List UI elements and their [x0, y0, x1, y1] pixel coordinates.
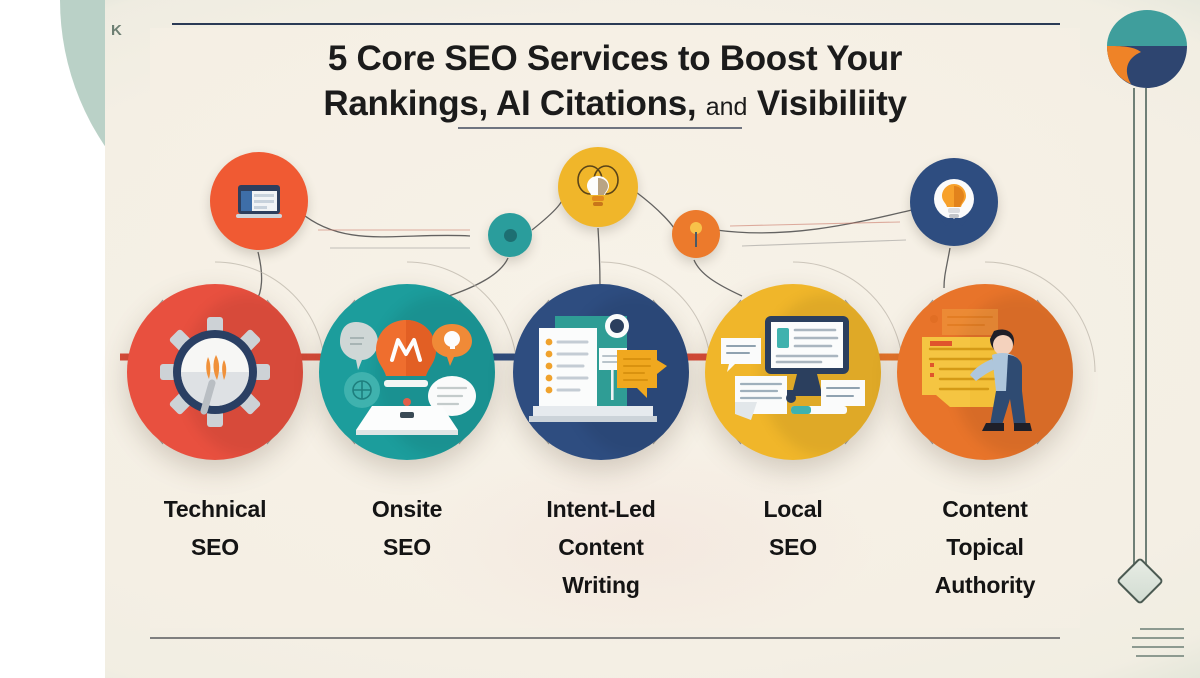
service-circle-intent-led-content-writing[interactable]: [513, 284, 689, 460]
vertical-stem-lines: [1131, 88, 1155, 568]
corner-watermark: K: [111, 22, 122, 39]
person-document-icon: [910, 299, 1060, 445]
node-technical[interactable]: [210, 152, 308, 250]
service-circle-technical-seo[interactable]: [127, 284, 303, 460]
laptop-idea-bubbles-icon: [332, 302, 482, 442]
browser-window-icon: [236, 183, 282, 219]
infographic-canvas: K 5 Core SEO Services to Boost Your Rank…: [0, 0, 1200, 678]
node-onsite[interactable]: [488, 213, 532, 257]
desktop-listing-icon: [717, 302, 869, 442]
label-technical-seo: Technical SEO: [105, 490, 325, 566]
title-line-1: 5 Core SEO Services to Boost Your: [150, 36, 1080, 81]
label-content-topical-authority: Content Topical Authority: [875, 490, 1095, 604]
label-line: Content: [491, 528, 711, 566]
service-circle-local-seo[interactable]: [705, 284, 881, 460]
gear-magnifier-icon: [154, 311, 276, 433]
top-divider-rule: [172, 23, 1060, 25]
label-onsite-seo: Onsite SEO: [297, 490, 517, 566]
title-segment-and: and: [706, 93, 748, 121]
label-local-seo: Local SEO: [683, 490, 903, 566]
document-checklist-icon: [525, 302, 677, 442]
label-line: SEO: [297, 528, 517, 566]
service-circle-onsite-seo[interactable]: [319, 284, 495, 460]
label-line: Content: [875, 490, 1095, 528]
lightbulb-idea-icon: [572, 162, 624, 212]
stacked-rules-decoration: [1132, 628, 1190, 664]
label-line: Technical: [105, 490, 325, 528]
bottom-divider-rule: [150, 637, 1060, 639]
title-segment-rankings: Rankings, AI Citations,: [323, 84, 696, 123]
title-segment-visibility: Visibiliity: [757, 84, 907, 123]
node-intent[interactable]: [558, 147, 638, 227]
label-line: SEO: [105, 528, 325, 566]
brand-blob-logo-icon: [1101, 8, 1193, 90]
service-circle-content-topical-authority[interactable]: [897, 284, 1073, 460]
label-line: Local: [683, 490, 903, 528]
title-line-2: Rankings, AI Citations, and Visibiliity: [150, 81, 1080, 130]
label-intent-led-content-writing: Intent-Led Content Writing: [491, 490, 711, 604]
label-line: Intent-Led: [491, 490, 711, 528]
label-line: Authority: [875, 566, 1095, 604]
label-line: Onsite: [297, 490, 517, 528]
node-local[interactable]: [672, 210, 720, 258]
dot-node-icon: [504, 229, 517, 242]
node-authority[interactable]: [910, 158, 998, 246]
page-title: 5 Core SEO Services to Boost Your Rankin…: [150, 36, 1080, 130]
lightbulb-white-icon: [926, 174, 982, 230]
label-line: Topical: [875, 528, 1095, 566]
label-line: SEO: [683, 528, 903, 566]
label-line: Writing: [491, 566, 711, 604]
pin-marker-icon: [688, 220, 704, 248]
